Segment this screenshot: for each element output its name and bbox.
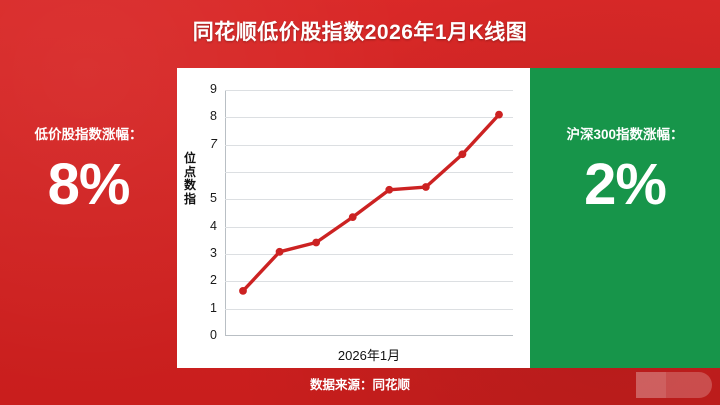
y-axis-title-char: 点	[182, 166, 198, 180]
y-axis-tick-label: 5	[177, 191, 217, 205]
y-axis-tick-label: 2	[177, 273, 217, 287]
right-stat-caption: 沪深300指数涨幅：	[530, 123, 720, 143]
data-point	[422, 183, 430, 191]
chart-card: 位 点 数 指 987543210 2026年1月	[177, 68, 530, 368]
y-axis-tick-label: 3	[177, 246, 217, 260]
data-point	[276, 248, 284, 256]
plot-area	[225, 90, 513, 336]
data-point	[239, 287, 247, 295]
left-stat-caption: 低价股指数涨幅：	[0, 123, 177, 143]
x-axis-label: 2026年1月	[225, 345, 513, 364]
data-point	[385, 186, 393, 194]
y-axis-tick-label: 7	[177, 137, 217, 151]
y-axis-tick-label: 1	[177, 301, 217, 315]
y-axis-tick-label: 0	[177, 328, 217, 342]
source-note: 数据来源：同花顺	[0, 374, 720, 393]
data-point	[495, 111, 503, 119]
y-axis-tick-label: 9	[177, 82, 217, 96]
y-axis-tick-label: 8	[177, 109, 217, 123]
data-point	[459, 150, 467, 158]
right-stat-value: 2%	[530, 156, 720, 214]
infographic-canvas: 同花顺低价股指数2026年1月K线图 低价股指数涨幅： 8% 沪深300指数涨幅…	[0, 0, 720, 405]
right-stat-panel: 沪深300指数涨幅： 2%	[530, 68, 720, 368]
left-stat-value: 8%	[0, 156, 177, 214]
data-point	[312, 239, 320, 247]
watermark-badge	[636, 372, 712, 398]
y-axis-title-char: 位	[182, 152, 198, 166]
data-point	[349, 213, 357, 221]
left-stat-panel: 低价股指数涨幅： 8%	[0, 68, 177, 368]
index-line-series	[225, 90, 513, 336]
page-title: 同花顺低价股指数2026年1月K线图	[0, 16, 720, 46]
y-axis-tick-label: 4	[177, 219, 217, 233]
